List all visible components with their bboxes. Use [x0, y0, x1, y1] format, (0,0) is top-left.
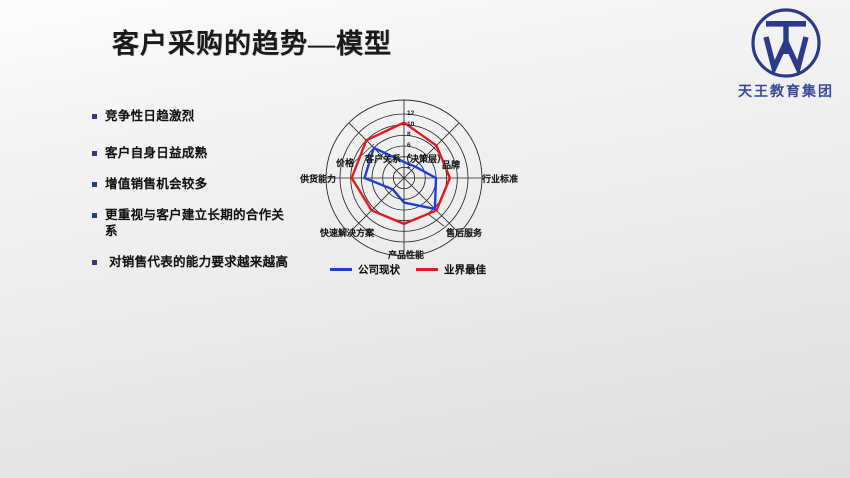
slide-root: 客户采购的趋势—模型 竞争性日趋激烈 客户自身日益成熟 增值销售机会较多 更重视… — [0, 0, 850, 478]
radar-axis-label: 供货能力 — [286, 172, 336, 185]
logo-company-name: 天王教育集团 — [730, 81, 842, 101]
radar-spoke — [404, 178, 459, 233]
radar-series-group — [352, 123, 450, 224]
bullet-marker-icon — [92, 260, 97, 265]
bullet-marker-icon — [92, 151, 97, 156]
legend-swatch-best — [416, 268, 438, 271]
list-item-label: 对销售代表的能力要求越来越高 — [109, 254, 288, 270]
legend-item-best: 业界最佳 — [416, 262, 486, 277]
bullet-list: 竞争性日趋激烈 客户自身日益成熟 增值销售机会较多 更重视与客户建立长期的合作关… — [92, 108, 292, 283]
legend-item-current: 公司现状 — [330, 262, 400, 277]
radar-spoke — [349, 123, 404, 178]
list-item-label: 客户自身日益成熟 — [105, 145, 207, 161]
bullet-marker-icon — [92, 213, 97, 218]
chart-legend: 公司现状 业界最佳 — [330, 262, 486, 277]
radar-axis-label: 售后服务 — [446, 226, 494, 239]
list-item: 客户自身日益成熟 — [92, 145, 292, 161]
radar-chart: 24681012客户关系（决策层）品牌行业标准售后服务产品性能快速解决方案供货能… — [286, 94, 556, 289]
radar-axis-label: 品牌 — [442, 158, 482, 171]
radar-tick-label: 10 — [407, 121, 414, 128]
company-logo: 天王教育集团 — [730, 6, 842, 101]
radar-axis-label: 快速解决方案 — [308, 226, 374, 239]
list-item-label: 更重视与客户建立长期的合作关系 — [105, 207, 292, 239]
radar-tick-label: 12 — [407, 110, 414, 117]
list-item: 对销售代表的能力要求越来越高 — [92, 254, 292, 270]
radar-axis-label: 行业标准 — [482, 172, 530, 185]
radar-tick-label: 6 — [407, 142, 411, 149]
bullet-marker-icon — [92, 182, 97, 187]
list-item: 增值销售机会较多 — [92, 176, 292, 192]
legend-swatch-current — [330, 268, 352, 271]
list-item: 更重视与客户建立长期的合作关系 — [92, 207, 292, 239]
list-item-label: 增值销售机会较多 — [105, 176, 207, 192]
bullet-marker-icon — [92, 114, 97, 119]
radar-tick-label: 8 — [407, 131, 411, 138]
legend-label-current: 公司现状 — [358, 262, 400, 277]
radar-axis-label: 客户关系（决策层） — [358, 152, 453, 165]
page-title: 客户采购的趋势—模型 — [112, 22, 392, 61]
radar-axis-label: 价格 — [324, 156, 354, 169]
logo-monogram-icon — [749, 6, 823, 80]
list-item-label: 竞争性日趋激烈 — [105, 108, 195, 124]
list-item: 竞争性日趋激烈 — [92, 108, 292, 124]
legend-label-best: 业界最佳 — [444, 262, 486, 277]
radar-axis-label: 产品性能 — [382, 248, 430, 261]
